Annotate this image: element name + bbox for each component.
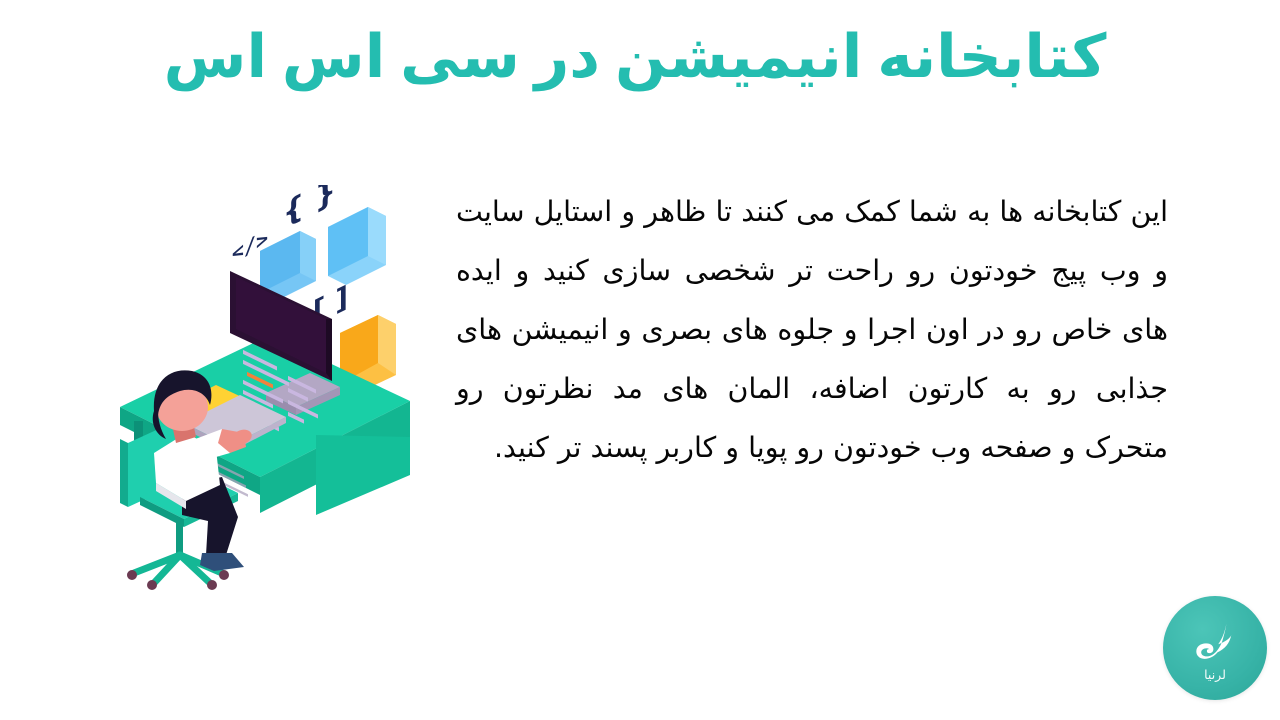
- title-block: کتابخانه انیمیشن در سی اس اس: [0, 30, 1280, 85]
- slide-root: کتابخانه انیمیشن در سی اس اس این کتابخان…: [0, 0, 1280, 720]
- developer-at-desk-illustration: </> { } [ ]: [110, 185, 440, 595]
- svg-text:{ }: { }: [283, 185, 336, 232]
- feather-quill-icon: [1189, 619, 1241, 671]
- body-paragraph: این کتابخانه ها به شما کمک می کنند تا ظا…: [456, 182, 1168, 477]
- body-text-block: این کتابخانه ها به شما کمک می کنند تا ظا…: [456, 182, 1168, 477]
- learnia-logo[interactable]: لرنیا: [1163, 596, 1267, 700]
- page-title: کتابخانه انیمیشن در سی اس اس: [110, 30, 1160, 85]
- logo-wordmark: لرنیا: [1204, 667, 1226, 682]
